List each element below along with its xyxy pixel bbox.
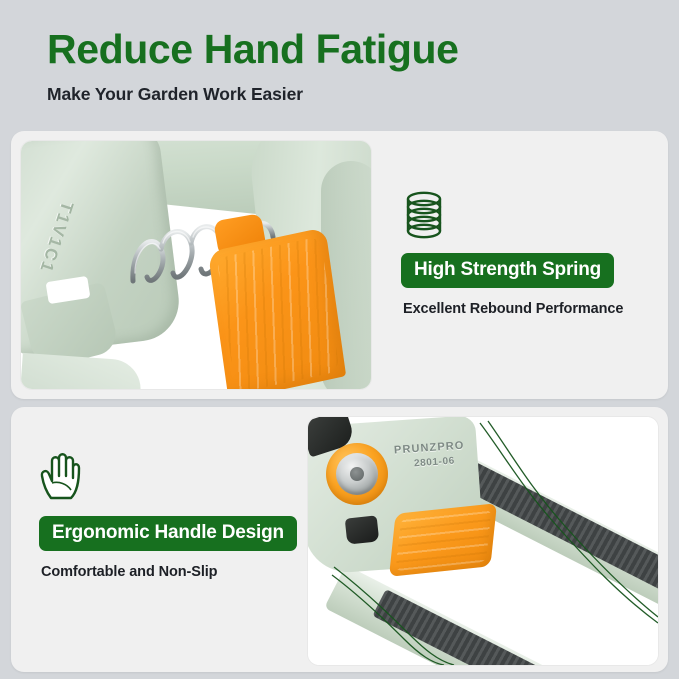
pruner-handle-photo: PRUNZPRO 2801-06 xyxy=(308,417,658,665)
feature-badge-high-strength-spring: High Strength Spring xyxy=(401,253,614,288)
feature-card-high-strength-spring: T1V1C1 xyxy=(11,131,668,399)
feature-card-ergonomic-handle-design: Ergonomic Handle Design Comfortable and … xyxy=(11,407,668,672)
open-hand-icon xyxy=(39,452,319,502)
page-subtitle: Make Your Garden Work Easier xyxy=(47,84,647,105)
page-header: Reduce Hand Fatigue Make Your Garden Wor… xyxy=(47,29,647,105)
infographic-page: Reduce Hand Fatigue Make Your Garden Wor… xyxy=(0,0,679,679)
feature-badge-ergonomic-handle-design: Ergonomic Handle Design xyxy=(39,516,297,551)
page-title: Reduce Hand Fatigue xyxy=(47,29,647,70)
orange-lock-lever xyxy=(208,227,346,389)
handle-photo-scene: PRUNZPRO 2801-06 xyxy=(308,417,658,665)
ergonomic-contour-lines xyxy=(308,417,658,665)
feature-text-ergonomic-handle-design: Ergonomic Handle Design Comfortable and … xyxy=(39,452,319,580)
feature-text-high-strength-spring: High Strength Spring Excellent Rebound P… xyxy=(401,191,651,317)
spring-coil-icon xyxy=(401,191,651,239)
feature-description-ergonomic-handle-design: Comfortable and Non-Slip xyxy=(41,564,319,580)
spring-photo-scene: T1V1C1 xyxy=(21,141,371,389)
pruner-spring-closeup-photo: T1V1C1 xyxy=(21,141,371,389)
lever-grip-ribs xyxy=(217,236,340,389)
pruner-lower-edge xyxy=(21,353,143,389)
feature-description-high-strength-spring: Excellent Rebound Performance xyxy=(403,301,651,317)
